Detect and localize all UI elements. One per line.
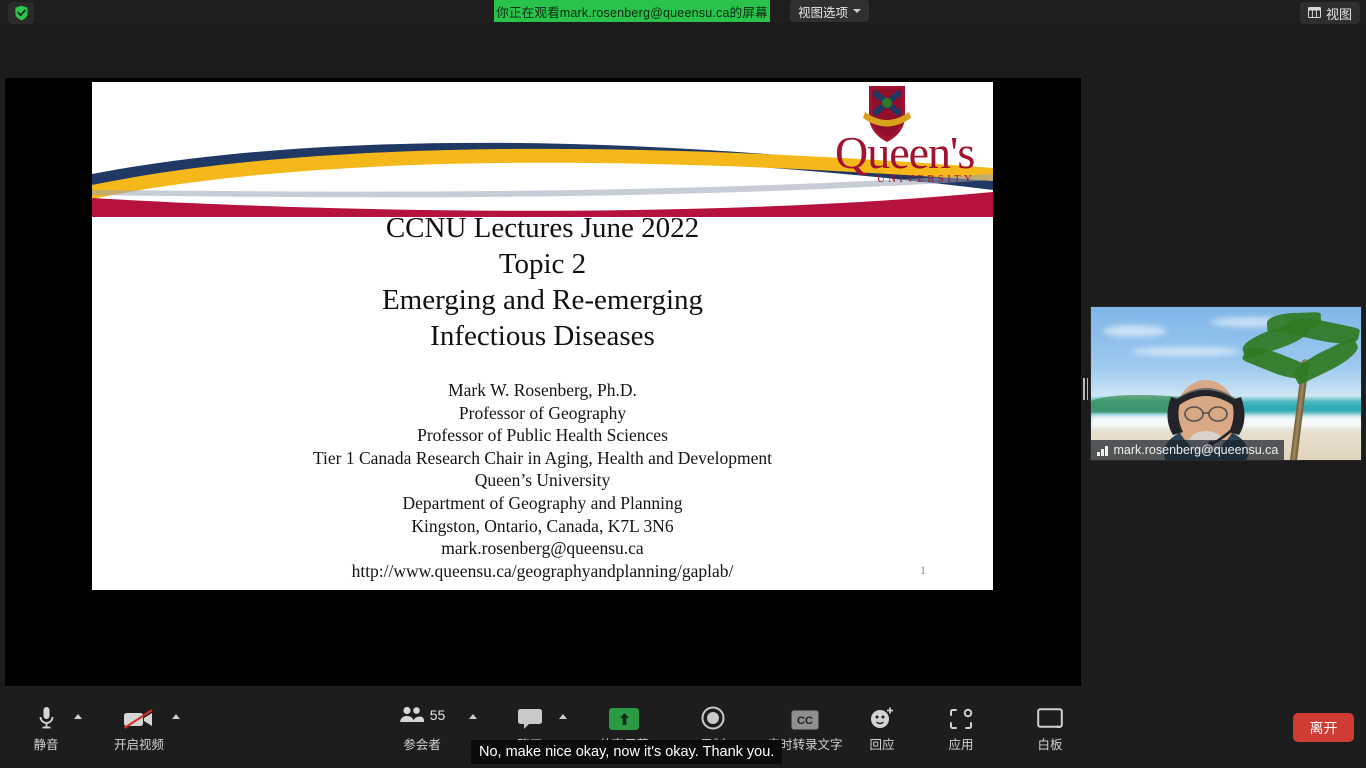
slide-title: CCNU Lectures June 2022 Topic 2 Emerging…	[92, 210, 993, 354]
slide-meta-line: http://www.queensu.ca/geographyandplanni…	[92, 560, 993, 583]
slide-title-line: Topic 2	[92, 246, 993, 282]
toolbar-item-start-video[interactable]: 开启视频	[102, 700, 176, 756]
participants-count: 55	[430, 707, 446, 723]
panel-resize-handle[interactable]	[1081, 370, 1090, 408]
mute-options-caret[interactable]	[74, 714, 82, 719]
grid-view-icon	[1308, 6, 1321, 21]
toolbar-label-start-video: 开启视频	[114, 734, 164, 753]
participant-name-text: mark.rosenberg@queensu.ca	[1114, 443, 1279, 457]
participants-icon: 55	[399, 700, 446, 730]
slide-title-line: Infectious Diseases	[92, 318, 993, 354]
chat-options-caret[interactable]	[559, 714, 567, 719]
slide-title-line: CCNU Lectures June 2022	[92, 210, 993, 246]
slide-meta-line: Professor of Geography	[92, 402, 993, 425]
chevron-down-icon	[853, 9, 861, 13]
slide-meta-line: mark.rosenberg@queensu.ca	[92, 537, 993, 560]
slide-number: 1	[908, 563, 938, 578]
queens-university-logo: Queen's UNIVERSITY	[821, 82, 981, 202]
slide-title-line: Emerging and Re-emerging	[92, 282, 993, 318]
shared-screen-stage[interactable]: Queen's UNIVERSITY CCNU Lectures June 20…	[5, 78, 1081, 686]
toolbar-label-mute: 静音	[33, 734, 58, 753]
slide-author-block: Mark W. Rosenberg, Ph.D. Professor of Ge…	[92, 379, 993, 582]
view-options-label: 视图选项	[798, 2, 848, 21]
video-camera-off-icon	[123, 700, 155, 730]
slide-meta-line: Queen’s University	[92, 469, 993, 492]
slide-meta-line: Mark W. Rosenberg, Ph.D.	[92, 379, 993, 402]
svg-text:CC: CC	[797, 715, 813, 727]
participant-name-label: mark.rosenberg@queensu.ca	[1091, 440, 1284, 460]
top-bar: 你正在观看mark.rosenberg@queensu.ca的屏幕 视图选项 视…	[0, 0, 1366, 22]
toolbar-item-apps[interactable]: 应用	[924, 700, 998, 756]
participant-video-tile[interactable]: mark.rosenberg@queensu.ca	[1090, 306, 1362, 461]
toolbar-label-apps: 应用	[948, 734, 973, 753]
watching-screen-banner: 你正在观看mark.rosenberg@queensu.ca的屏幕	[494, 0, 770, 22]
view-options-dropdown[interactable]: 视图选项	[790, 0, 869, 22]
signal-bars-icon	[1097, 445, 1108, 456]
microphone-icon	[38, 700, 55, 730]
apps-icon	[949, 700, 973, 730]
cloud-shape	[1131, 347, 1241, 356]
handle-bar	[1083, 378, 1085, 400]
toolbar-item-whiteboard[interactable]: 白板	[1013, 700, 1087, 756]
leave-meeting-button[interactable]: 离开	[1293, 713, 1354, 742]
toolbar-item-mute[interactable]: 静音	[9, 700, 83, 756]
video-options-caret[interactable]	[172, 714, 180, 719]
reactions-smiley-icon	[869, 700, 895, 730]
presentation-slide: Queen's UNIVERSITY CCNU Lectures June 20…	[92, 82, 993, 590]
handle-bar	[1087, 378, 1089, 400]
cloud-shape	[1103, 325, 1167, 337]
whiteboard-icon	[1037, 700, 1063, 730]
toolbar-label-participants: 参会者	[403, 734, 441, 753]
live-caption-overlay: No, make nice okay, now it's okay. Thank…	[471, 740, 782, 764]
toolbar-label-whiteboard: 白板	[1037, 734, 1062, 753]
slide-meta-line: Kingston, Ontario, Canada, K7L 3N6	[92, 515, 993, 538]
slide-meta-line: Tier 1 Canada Research Chair in Aging, H…	[92, 447, 993, 470]
svg-text:UNIVERSITY: UNIVERSITY	[877, 173, 975, 185]
share-screen-icon	[609, 700, 639, 730]
toolbar-label-reactions: 回应	[869, 734, 894, 753]
slide-meta-line: Professor of Public Health Sciences	[92, 424, 993, 447]
closed-caption-icon: CC	[791, 700, 819, 730]
shield-check-icon[interactable]	[8, 2, 34, 24]
toolbar-item-participants[interactable]: 55 参会者	[385, 700, 459, 756]
toolbar-item-reactions[interactable]: 回应	[845, 700, 919, 756]
record-circle-icon	[701, 700, 725, 730]
svg-text:Queen's: Queen's	[835, 127, 974, 178]
slide-meta-line: Department of Geography and Planning	[92, 492, 993, 515]
view-button-label: 视图	[1326, 4, 1352, 23]
chat-bubble-icon	[517, 700, 543, 730]
participants-options-caret[interactable]	[469, 714, 477, 719]
view-button[interactable]: 视图	[1300, 2, 1360, 24]
